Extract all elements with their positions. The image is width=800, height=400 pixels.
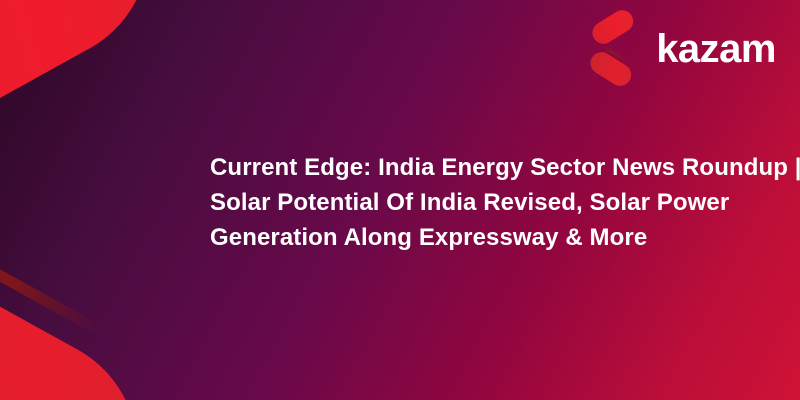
page-title: Current Edge: India Energy Sector News R… bbox=[210, 150, 755, 255]
kazam-chevron-mark-icon bbox=[598, 24, 644, 74]
watermark-seam bbox=[0, 169, 100, 335]
kazam-wordmark: kazam bbox=[656, 29, 776, 69]
page-title-line-2: Solar Potential Of India Revised, Solar … bbox=[210, 185, 755, 220]
page-title-line-3: Generation Along Expressway & More bbox=[210, 220, 755, 255]
article-banner: kazam Current Edge: India Energy Sector … bbox=[0, 0, 800, 400]
watermark-bar-upper bbox=[0, 0, 191, 220]
kazam-logo[interactable]: kazam bbox=[598, 24, 776, 74]
page-title-line-1: Current Edge: India Energy Sector News R… bbox=[210, 150, 755, 185]
